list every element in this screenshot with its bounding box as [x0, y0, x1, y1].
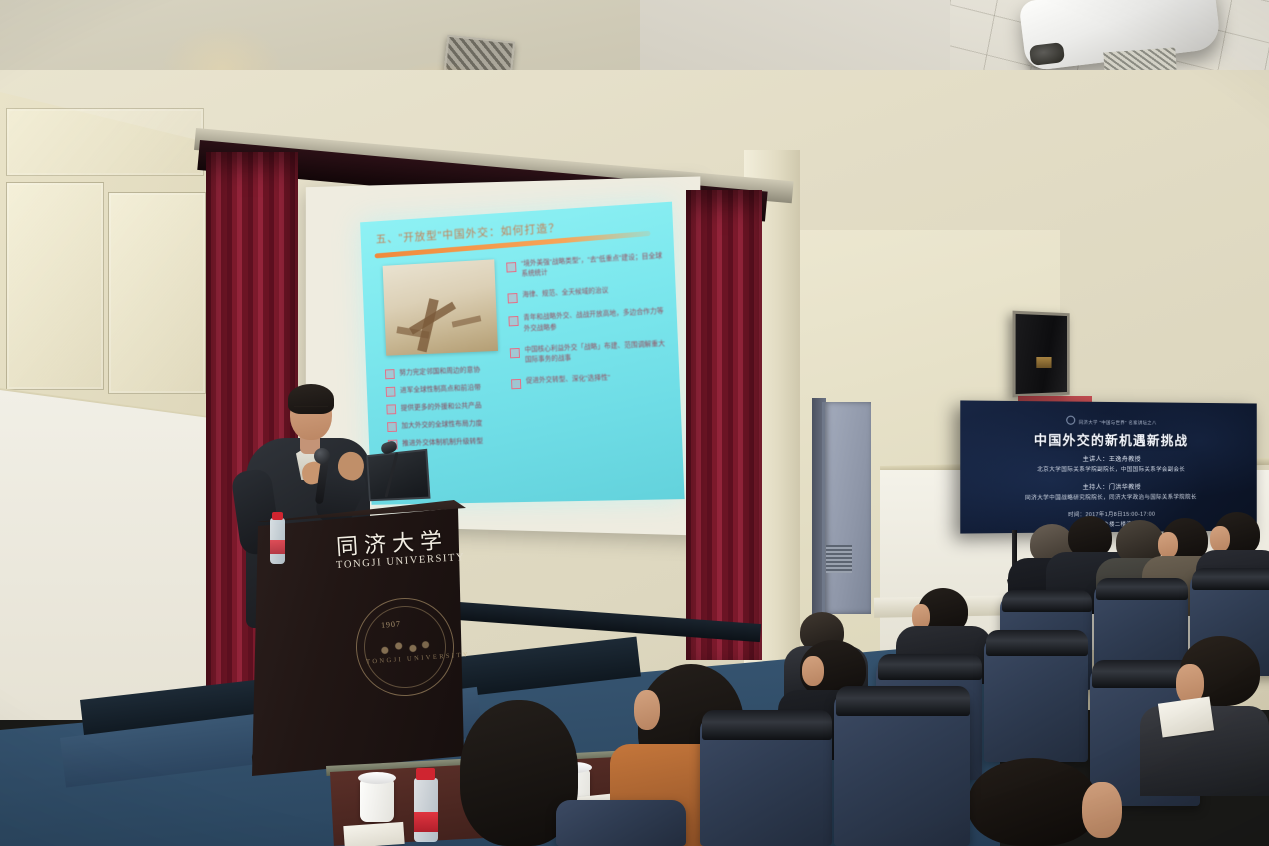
auditorium-seat[interactable]	[556, 800, 686, 846]
bullet-marker-icon	[506, 262, 516, 273]
slide-illustration	[383, 259, 498, 355]
bullet-marker-icon	[508, 316, 518, 326]
tea-mug	[360, 780, 394, 822]
attendee-face	[802, 656, 824, 686]
university-logo-icon	[1067, 416, 1076, 425]
slide-bullet: 海律、规范、全天候域的治议	[507, 284, 665, 304]
seal-year-label: 1907	[381, 619, 402, 629]
attendee-face	[1210, 526, 1230, 552]
podium-laptop	[366, 449, 430, 502]
bottle-cap-icon	[272, 512, 283, 520]
bullet-marker-icon	[385, 369, 395, 379]
attendee-face	[634, 690, 660, 730]
poster-series-label: 同济大学 "中国与世界" 名家讲坛之八	[960, 415, 1256, 427]
bullet-marker-icon	[510, 348, 520, 358]
bullet-marker-icon	[387, 422, 397, 432]
bottle-cap-icon	[416, 768, 435, 780]
microphone-head-icon	[314, 448, 330, 464]
handout-paper	[1158, 697, 1214, 738]
event-poster-board: 同济大学 "中国与世界" 名家讲坛之八 中国外交的新机遇新挑战 主讲人：王逸舟教…	[960, 400, 1256, 533]
poster-series-text: 同济大学 "中国与世界" 名家讲坛之八	[1079, 420, 1157, 426]
wall-loudspeaker	[1013, 311, 1070, 398]
door-vent-grille-icon	[826, 545, 852, 573]
poster-title: 中国外交的新机遇新挑战	[960, 429, 1256, 449]
attendee-face	[1158, 532, 1178, 558]
poster-speaker-label: 主讲人：王逸舟教授	[960, 454, 1256, 463]
stage-curtain-right	[686, 190, 762, 660]
seat-headrest	[1002, 590, 1092, 612]
slide-bullet: 提供更多的外援和公共产品	[386, 398, 532, 415]
poster-host-affiliation: 同济大学中国战略研究院院长，同济大学政治与国际关系学院院长	[960, 492, 1256, 501]
bullet-marker-icon	[507, 293, 517, 303]
lecture-hall-photo: 五、"开放型"中国外交：如何打造？ "境外美强"战略类型"，"去"低重点"建设；…	[0, 0, 1269, 846]
wall-panel	[108, 192, 206, 394]
seat-headrest	[1192, 568, 1269, 590]
left-wall-lower	[0, 390, 240, 720]
bottle-label	[414, 812, 438, 832]
handout-paper	[343, 822, 404, 846]
mug-lid-icon	[358, 772, 396, 784]
seat-headrest	[1096, 578, 1188, 600]
slide-bullet: "境外美强"战略类型"，"去"低重点"建设；目全球系统统计	[506, 251, 664, 281]
bullet-marker-icon	[386, 404, 396, 414]
slide-bottom-bullets: 努力完定邻国和周边的意协 进军全球性制高点和前沿带 提供更多的外援和公共产品 加…	[385, 362, 534, 456]
slide-bullet: 促进外交转型、深化"选择性"	[511, 371, 669, 389]
seat-headrest	[702, 710, 832, 740]
bottle-label	[270, 540, 285, 554]
slide-bullet: 中国核心利益外交「战略」布建、范围调解重大国际事务的战事	[510, 339, 669, 366]
attendee-face	[1082, 782, 1122, 838]
poster-host-label: 主持人：门洪华教授	[960, 482, 1256, 492]
bullet-marker-icon	[386, 387, 396, 397]
slide-bullet: 努力完定邻国和周边的意协	[385, 362, 531, 380]
wall-panel	[6, 108, 204, 176]
slide-bullet: 进军全球性制高点和前沿带	[386, 380, 532, 397]
slide-bullet: 加大外交的全球性布局力度	[387, 416, 533, 432]
attendee-head	[968, 758, 1098, 846]
slide-bullet: 青年和战略外交、战战开放高地，多边合作力等外交战略参	[508, 307, 667, 335]
slide-bullet: 推进外交体制机制升级转型	[388, 434, 534, 450]
seat-headrest	[986, 630, 1088, 656]
loudspeaker-badge-icon	[1036, 357, 1051, 368]
water-bottle	[414, 778, 438, 842]
wall-panel	[6, 182, 104, 390]
side-door[interactable]	[822, 402, 871, 614]
speaker-glasses-icon	[294, 406, 328, 415]
poster-speaker-affiliation: 北京大学国际关系学院副院长，中国国际关系学会副会长	[960, 465, 1256, 473]
seat-headrest	[836, 686, 970, 716]
seat-headrest	[878, 654, 982, 680]
